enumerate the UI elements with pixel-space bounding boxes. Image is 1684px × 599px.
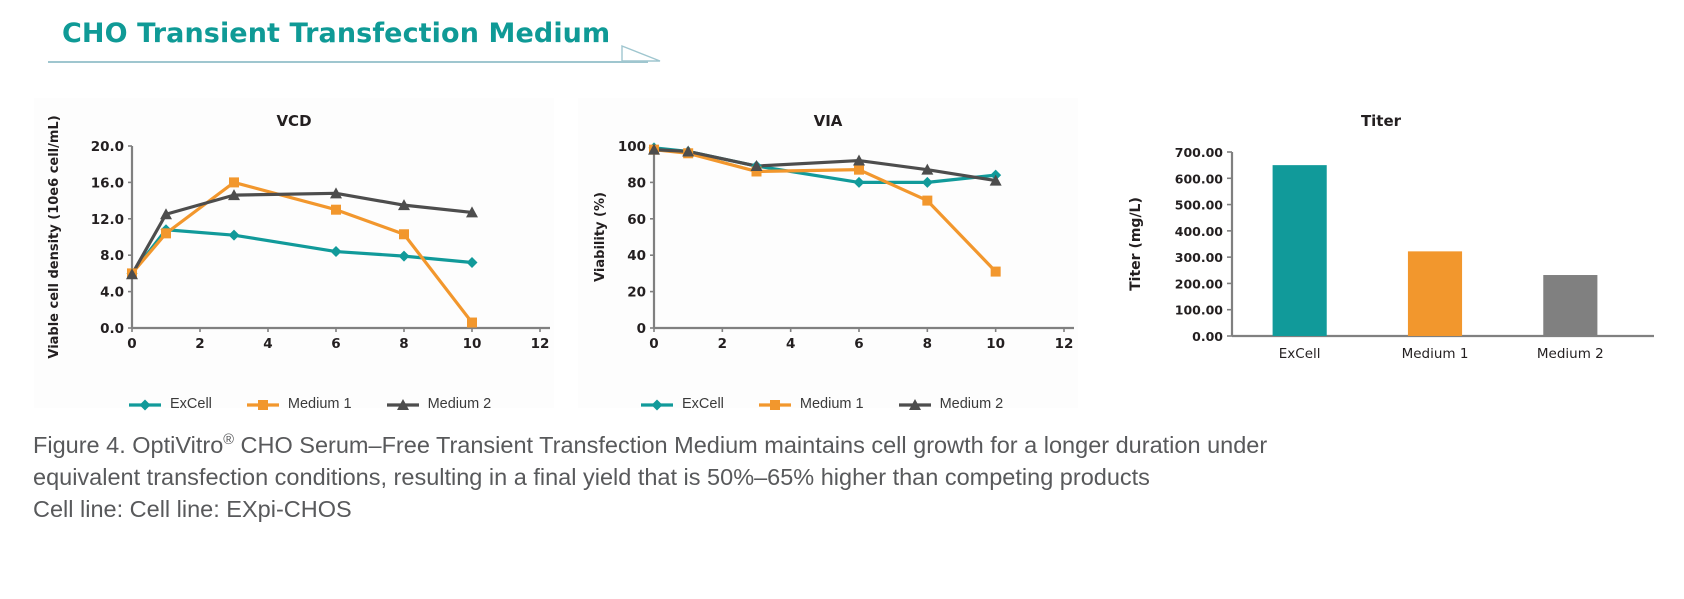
x-tick-label: 12 [531,336,550,352]
page-header: CHO Transient Transfection Medium [0,0,1684,78]
x-tick-label: 10 [463,336,482,352]
titer-bar-chart: 0.00100.00200.00300.00400.00500.00600.00… [1102,98,1660,408]
y-axis-title: Titer (mg/L) [1128,197,1144,291]
diamond-marker [922,177,933,188]
x-category-label: ExCell [1279,346,1321,362]
diamond-marker [467,257,478,268]
y-tick-label: 12.0 [91,212,124,228]
header-divider [48,61,648,63]
x-tick-label: 6 [331,336,340,352]
y-axis-title: Viable cell density (10e6 cell/mL) [47,115,62,358]
x-tick-label: 2 [718,336,727,352]
y-tick-label: 700.00 [1175,145,1224,160]
series-line-medium-1 [132,182,472,322]
y-tick-label: 60 [627,212,646,228]
y-tick-label: 100 [618,139,646,155]
legend-label: Medium 2 [940,396,1004,412]
y-tick-label: 0 [637,321,646,337]
y-tick-label: 4.0 [100,285,124,301]
x-tick-label: 8 [399,336,408,352]
square-marker [770,400,780,410]
square-marker [922,196,932,206]
via-line-chart: 020406080100024681012Viability (%) [578,98,1078,408]
arrow-triangle-icon [620,44,662,63]
y-axis-title: Viability (%) [593,192,608,282]
square-marker [467,318,477,328]
legend-vcd: ExCellMedium 1Medium 2 [128,396,525,412]
y-tick-label: 8.0 [100,248,124,264]
x-tick-label: 0 [127,336,136,352]
bar-excell [1273,165,1327,336]
x-tick-label: 4 [786,336,795,352]
square-marker [258,400,268,410]
y-tick-label: 0.0 [100,321,124,337]
chart-panel-titer: Titer 0.00100.00200.00300.00400.00500.00… [1102,98,1660,408]
diamond-marker [640,398,674,410]
x-tick-label: 6 [854,336,863,352]
legend-label: Medium 1 [800,396,864,412]
square-marker [991,267,1001,277]
diamond-marker [399,251,410,262]
x-tick-label: 12 [1055,336,1074,352]
x-tick-label: 10 [986,336,1005,352]
diamond-marker [128,398,162,410]
registered-mark: ® [223,432,234,448]
caption-line-1-a: Figure 4. OptiVitro [33,432,223,458]
series-line-medium-2 [132,193,472,274]
square-marker [399,229,409,239]
square-marker [229,177,239,187]
y-tick-label: 300.00 [1175,250,1224,265]
legend-item-medium-2: Medium 2 [386,396,492,412]
y-tick-label: 0.00 [1192,329,1223,344]
legend-item-medium-1: Medium 1 [758,396,864,412]
legend-label: ExCell [170,396,212,412]
caption-line-1: Figure 4. OptiVitro® CHO Serum–Free Tran… [33,424,1513,461]
legend-item-excell: ExCell [640,396,724,412]
legend-via: ExCellMedium 1Medium 2 [640,396,1037,412]
x-tick-label: 2 [195,336,204,352]
y-tick-label: 100.00 [1175,303,1224,318]
caption-line-3: Cell line: Cell line: EXpi-CHOS [33,493,1513,525]
square-marker [331,205,341,215]
vcd-line-chart: 0.04.08.012.016.020.0024681012Viable cel… [34,98,554,408]
y-tick-label: 20 [627,285,646,301]
y-tick-label: 16.0 [91,175,124,191]
square-marker [246,398,280,410]
x-tick-label: 8 [923,336,932,352]
caption-line-2: equivalent transfection conditions, resu… [33,461,1513,493]
bar-medium-1 [1408,251,1462,336]
x-tick-label: 0 [649,336,658,352]
legend-label: ExCell [682,396,724,412]
y-tick-label: 40 [627,248,646,264]
diamond-marker [854,177,865,188]
page-title: CHO Transient Transfection Medium [62,18,610,49]
x-tick-label: 4 [263,336,272,352]
caption-line-1-b: CHO Serum–Free Transient Transfection Me… [234,432,1267,458]
diamond-marker [229,230,240,241]
x-category-label: Medium 1 [1402,346,1469,362]
figure-caption: Figure 4. OptiVitro® CHO Serum–Free Tran… [33,424,1513,525]
diamond-marker [140,400,151,411]
square-marker [854,165,864,175]
series-line-medium-1 [654,150,996,272]
legend-label: Medium 2 [428,396,492,412]
chart-panel-vcd: VCD 0.04.08.012.016.020.0024681012Viable… [34,98,554,408]
legend-item-excell: ExCell [128,396,212,412]
legend-item-medium-2: Medium 2 [898,396,1004,412]
x-category-label: Medium 2 [1537,346,1604,362]
y-tick-label: 20.0 [91,139,124,155]
triangle-marker [898,398,932,410]
legend-item-medium-1: Medium 1 [246,396,352,412]
triangle-marker [386,398,420,410]
diamond-marker [331,246,342,257]
y-tick-label: 400.00 [1175,224,1224,239]
y-tick-label: 600.00 [1175,171,1224,186]
diamond-marker [652,400,663,411]
y-tick-label: 80 [627,175,646,191]
y-tick-label: 500.00 [1175,198,1224,213]
chart-panel-via: VIA 020406080100024681012Viability (%) [578,98,1078,408]
y-tick-label: 200.00 [1175,276,1224,291]
series-line-excell [654,148,996,183]
square-marker [758,398,792,410]
bar-medium-2 [1543,275,1597,336]
series-line-excell [132,230,472,274]
square-marker [161,228,171,238]
legend-label: Medium 1 [288,396,352,412]
